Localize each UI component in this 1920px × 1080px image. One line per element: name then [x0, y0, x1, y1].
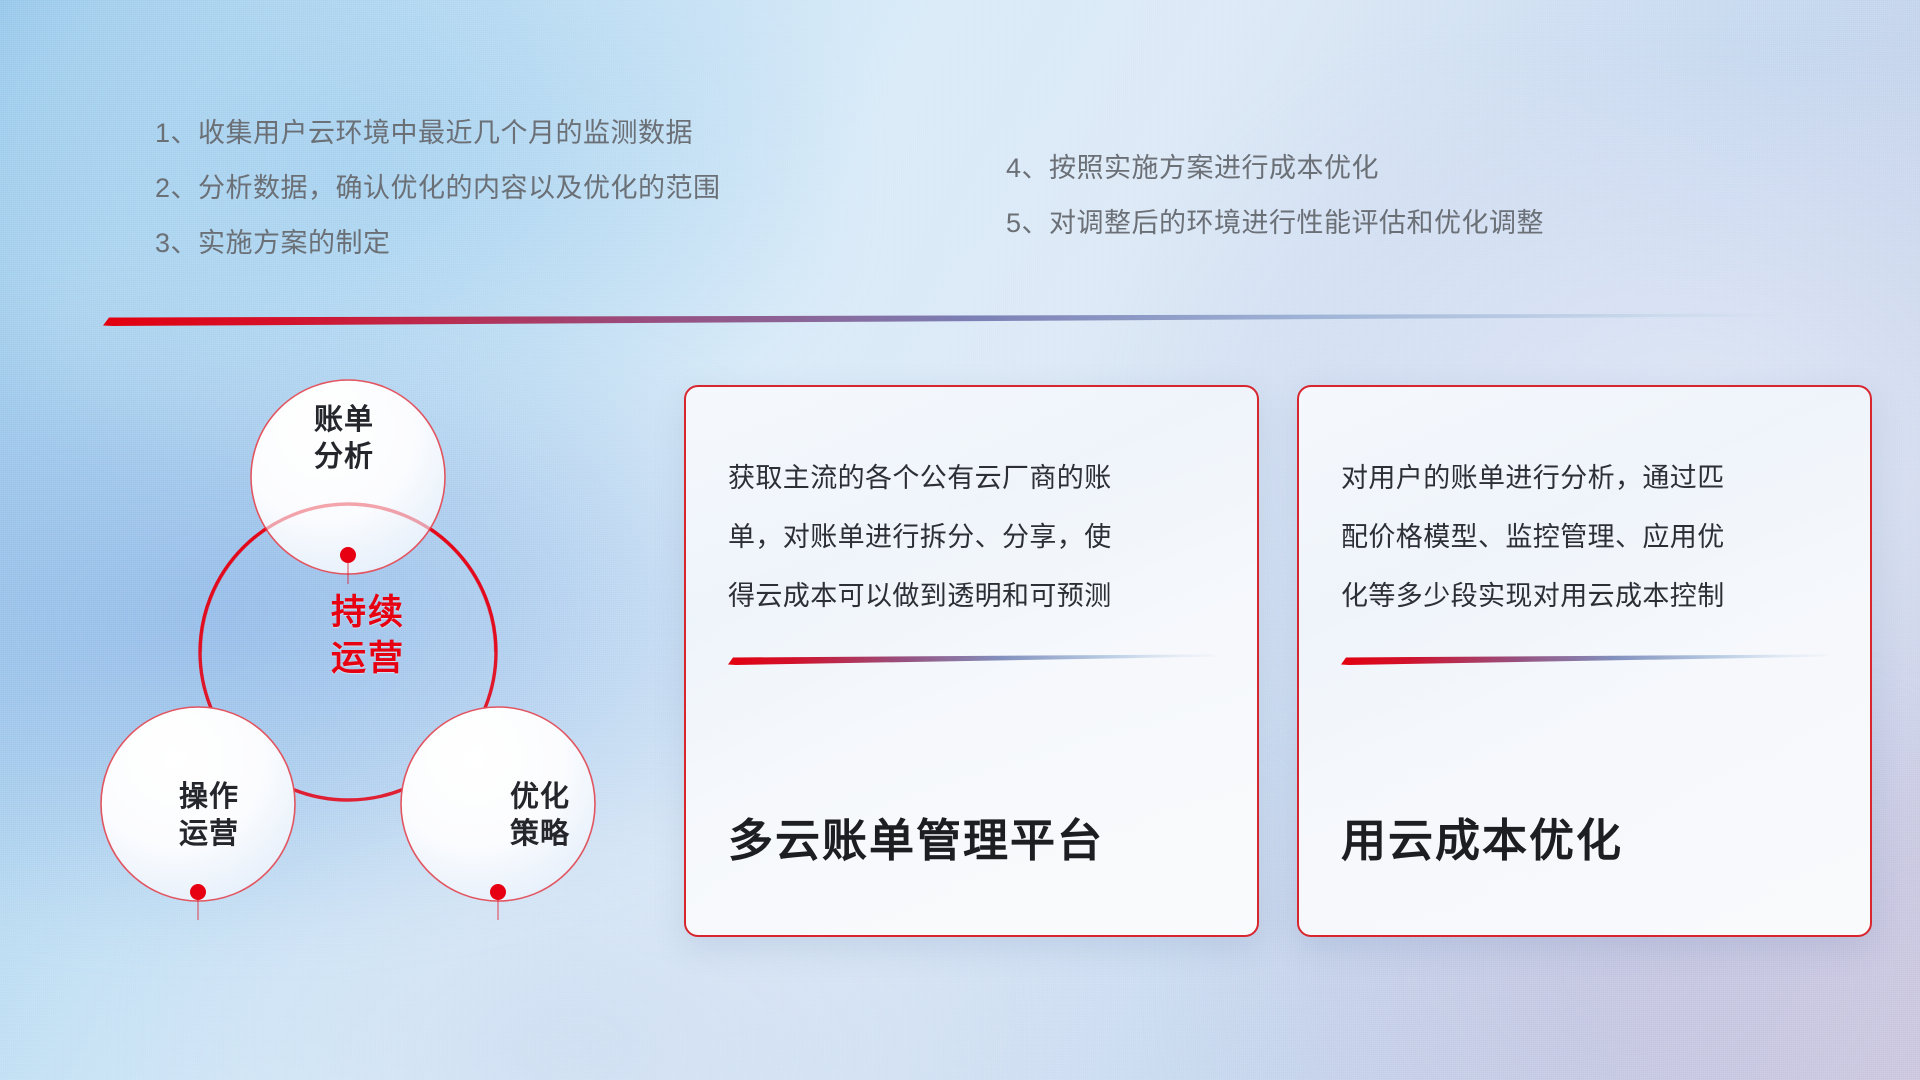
step-item-1: 1、收集用户云环境中最近几个月的监测数据 — [155, 120, 721, 147]
venn-node-bottom-left — [190, 884, 206, 900]
venn-label-operations: 操作 运营 — [129, 779, 289, 853]
feature-card-body: 对用户的账单进行分析，通过匹 配价格模型、监控管理、应用优 化等多少段实现对用云… — [1341, 449, 1828, 626]
section-divider — [103, 313, 1833, 326]
feature-card-title: 用云成本优化 — [1341, 804, 1828, 901]
feature-card-rule — [1341, 654, 1828, 665]
venn-node-top — [340, 547, 356, 563]
step-item-5: 5、对调整后的环境进行性能评估和优化调整 — [1006, 210, 1544, 237]
feature-card-body: 获取主流的各个公有云厂商的账 单，对账单进行拆分、分享，使 得云成本可以做到透明… — [728, 449, 1215, 626]
step-item-2: 2、分析数据，确认优化的内容以及优化的范围 — [155, 175, 721, 202]
steps-list-left: 1、收集用户云环境中最近几个月的监测数据 2、分析数据，确认优化的内容以及优化的… — [155, 120, 721, 285]
feature-card-rule — [728, 654, 1215, 665]
steps-list-right: 4、按照实施方案进行成本优化 5、对调整后的环境进行性能评估和优化调整 — [1006, 155, 1544, 265]
feature-card-multi-cloud-billing-platform[interactable]: 获取主流的各个公有云厂商的账 单，对账单进行拆分、分享，使 得云成本可以做到透明… — [684, 385, 1259, 937]
step-item-3: 3、实施方案的制定 — [155, 230, 721, 257]
venn-center-label: 持续 运营 — [268, 590, 468, 681]
feature-card-title: 多云账单管理平台 — [728, 804, 1215, 901]
venn-label-billing-analysis: 账单 分析 — [264, 402, 424, 476]
venn-node-bottom-right — [490, 884, 506, 900]
feature-card-cloud-cost-optimization[interactable]: 对用户的账单进行分析，通过匹 配价格模型、监控管理、应用优 化等多少段实现对用云… — [1297, 385, 1872, 937]
step-item-4: 4、按照实施方案进行成本优化 — [1006, 155, 1544, 182]
venn-label-optimization-strategy: 优化 策略 — [460, 779, 620, 853]
